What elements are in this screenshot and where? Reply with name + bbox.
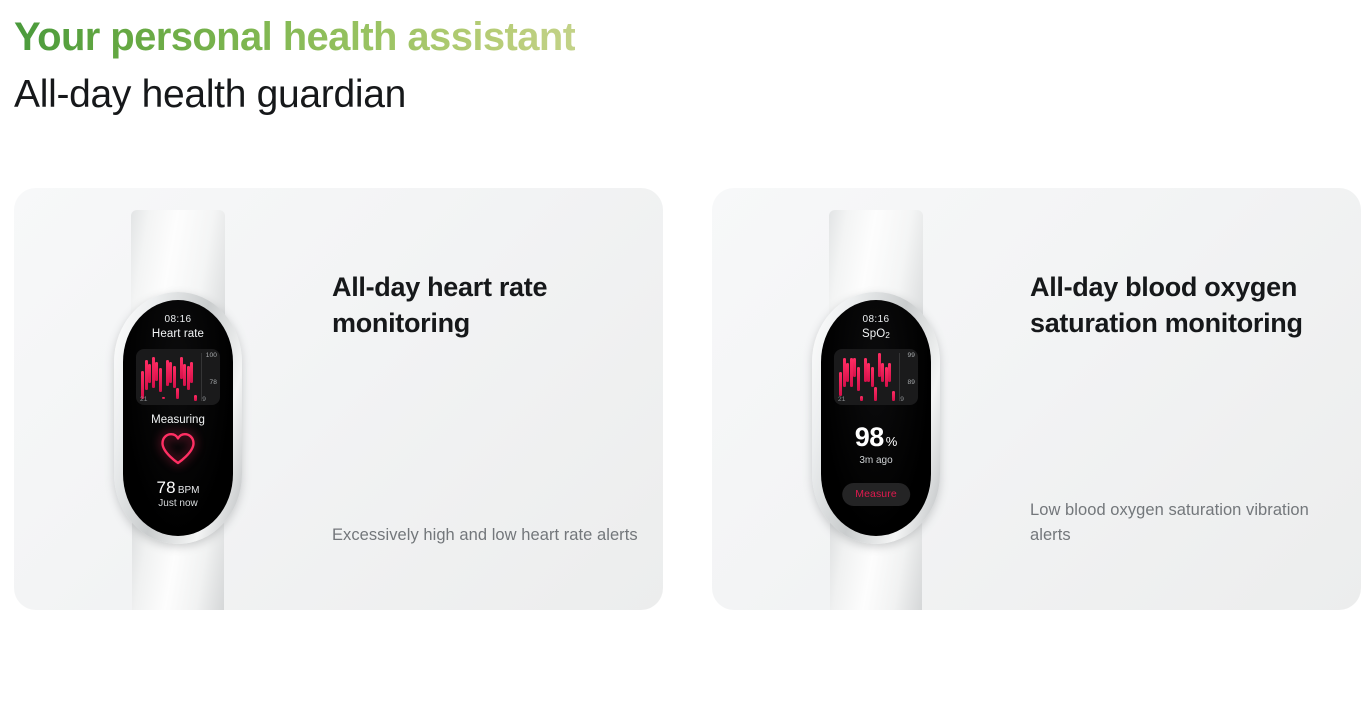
page-heading: Your personal health assistant All-day h…: [14, 14, 575, 120]
spo2-range-chart: 99 89 21 9: [834, 349, 918, 405]
chart-bar: [187, 366, 190, 390]
screen-metric-label-text: SpO: [862, 328, 885, 340]
chart-bar: [885, 367, 888, 386]
chart-bar: [183, 364, 186, 386]
chart-bar: [159, 368, 162, 392]
band-bezel: 08:16 Heart rate 100 78 21 9 Measuring: [114, 292, 242, 544]
chart-bars: [839, 353, 895, 401]
chart-bar: [176, 388, 179, 399]
chart-bar: [857, 367, 860, 391]
chart-bar: [180, 357, 183, 379]
smart-band-spo2: 08:16 SpO2 99 89 21 9 98% 3m ago Measu: [800, 210, 952, 610]
feature-card-spo2[interactable]: 08:16 SpO2 99 89 21 9 98% 3m ago Measu: [712, 188, 1361, 610]
chart-bar: [145, 360, 148, 391]
chart-bar: [878, 353, 881, 377]
feature-cards: 08:16 Heart rate 100 78 21 9 Measuring: [0, 188, 1370, 612]
page-title: Your personal health assistant: [14, 14, 575, 61]
chart-bar: [853, 358, 856, 377]
heart-rate-timestamp: Just now: [123, 498, 233, 509]
screen-time: 08:16: [821, 314, 931, 325]
chart-bar: [864, 358, 867, 382]
heart-rate-range-chart: 100 78 21 9: [136, 349, 220, 405]
card-title: All-day blood oxygen saturation monitori…: [1030, 270, 1342, 342]
heart-rate-unit: BPM: [178, 485, 200, 496]
chart-xaxis-left: 21: [838, 396, 846, 403]
chart-bar: [194, 395, 197, 402]
spo2-unit: %: [886, 434, 898, 449]
chart-divider: [899, 353, 900, 401]
chart-xaxis-right: 9: [900, 396, 904, 403]
card-title: All-day heart rate monitoring: [332, 270, 644, 342]
chart-bar: [888, 363, 891, 382]
chart-bar: [148, 364, 151, 384]
measuring-status: Measuring: [123, 414, 233, 426]
screen-time: 08:16: [123, 314, 233, 325]
chart-xaxis-left: 21: [140, 396, 148, 403]
chart-bar: [190, 362, 193, 384]
measure-button[interactable]: Measure: [842, 483, 910, 506]
chart-bar: [871, 367, 874, 386]
heart-rate-value: 78: [157, 478, 176, 497]
chart-bar: [152, 357, 155, 388]
chart-bar: [155, 362, 158, 382]
chart-bar: [874, 387, 877, 401]
chart-axis-max: 99: [907, 352, 915, 359]
chart-bar: [892, 391, 895, 401]
chart-bar: [881, 363, 884, 382]
heart-icon: [160, 432, 196, 465]
chart-bar: [846, 363, 849, 382]
chart-bar: [173, 366, 176, 388]
feature-card-heart-rate[interactable]: 08:16 Heart rate 100 78 21 9 Measuring: [14, 188, 663, 610]
screen-metric-label-subscript: 2: [885, 331, 890, 340]
band-bezel: 08:16 SpO2 99 89 21 9 98% 3m ago Measu: [812, 292, 940, 544]
chart-bar: [141, 371, 144, 399]
card-text-spo2: All-day blood oxygen saturation monitori…: [1030, 270, 1342, 600]
chart-bar: [169, 362, 172, 384]
chart-bars: [141, 353, 197, 401]
smart-band-heart-rate: 08:16 Heart rate 100 78 21 9 Measuring: [102, 210, 254, 610]
chart-axis-min: 89: [907, 379, 915, 386]
band-screen-spo2[interactable]: 08:16 SpO2 99 89 21 9 98% 3m ago Measu: [821, 300, 931, 536]
card-description: Low blood oxygen saturation vibration al…: [1030, 498, 1342, 548]
chart-bar: [860, 396, 863, 401]
heart-rate-reading: 78BPM: [123, 478, 233, 498]
page-subtitle: All-day health guardian: [14, 71, 575, 120]
chart-bar: [843, 358, 846, 387]
band-screen-heart-rate[interactable]: 08:16 Heart rate 100 78 21 9 Measuring: [123, 300, 233, 536]
chart-bar: [867, 363, 870, 382]
chart-bar: [166, 360, 169, 386]
screen-metric-label: SpO2: [821, 328, 931, 340]
heart-icon-wrap: [123, 432, 233, 465]
chart-bar: [839, 372, 842, 396]
chart-bar: [162, 397, 165, 399]
card-description: Excessively high and low heart rate aler…: [332, 523, 638, 548]
chart-axis-min: 78: [209, 379, 217, 386]
chart-xaxis-right: 9: [202, 396, 206, 403]
chart-bar: [850, 358, 853, 387]
chart-divider: [201, 353, 202, 401]
card-text-heart-rate: All-day heart rate monitoring Excessivel…: [332, 270, 644, 600]
spo2-timestamp: 3m ago: [821, 455, 931, 466]
spo2-reading: 98%: [821, 422, 931, 453]
screen-metric-label: Heart rate: [123, 328, 233, 340]
chart-axis-max: 100: [206, 352, 217, 359]
spo2-value: 98: [855, 422, 884, 452]
